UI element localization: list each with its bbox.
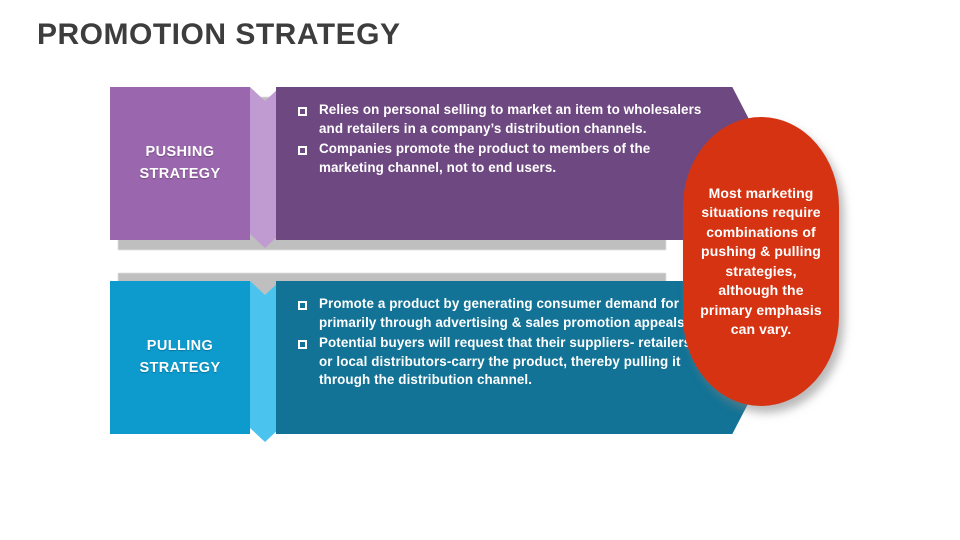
chevron-connector-icon-pushing: [250, 87, 280, 248]
pulling-strategy-band: PULLING STRATEGY Promote a product by ge…: [110, 281, 670, 446]
list-item: Relies on personal selling to market an …: [298, 101, 702, 138]
hollow-square-bullet-icon: [298, 101, 319, 122]
summary-text: Most marketing situations require combin…: [697, 184, 825, 340]
pushing-strategy-label-block[interactable]: PUSHING STRATEGY: [110, 87, 250, 240]
bullet-text: Companies promote the product to members…: [319, 140, 702, 177]
chevron-connector-icon-pulling: [250, 281, 280, 442]
pushing-label-line-2: STRATEGY: [139, 166, 220, 182]
pushing-label-line-1: PUSHING: [146, 144, 215, 160]
list-item: Promote a product by generating consumer…: [298, 295, 702, 332]
pushing-strategy-band: PUSHING STRATEGY Relies on personal sell…: [110, 87, 670, 252]
page-title: PROMOTION STRATEGY: [37, 18, 400, 52]
pulling-strategy-label: PULLING STRATEGY: [139, 336, 220, 380]
pulling-label-line-1: PULLING: [147, 338, 213, 354]
hollow-square-bullet-icon: [298, 334, 319, 355]
bullet-text: Potential buyers will request that their…: [319, 334, 702, 390]
pulling-label-line-2: STRATEGY: [139, 360, 220, 376]
list-item: Companies promote the product to members…: [298, 140, 702, 177]
pushing-bullet-list: Relies on personal selling to market an …: [298, 101, 702, 179]
pushing-strategy-label: PUSHING STRATEGY: [139, 142, 220, 186]
pulling-bullet-list: Promote a product by generating consumer…: [298, 295, 702, 392]
pulling-strategy-label-block[interactable]: PULLING STRATEGY: [110, 281, 250, 434]
hollow-square-bullet-icon: [298, 295, 319, 316]
bullet-text: Relies on personal selling to market an …: [319, 101, 702, 138]
summary-callout: Most marketing situations require combin…: [683, 117, 839, 406]
hollow-square-bullet-icon: [298, 140, 319, 161]
list-item: Potential buyers will request that their…: [298, 334, 702, 390]
bullet-text: Promote a product by generating consumer…: [319, 295, 702, 332]
